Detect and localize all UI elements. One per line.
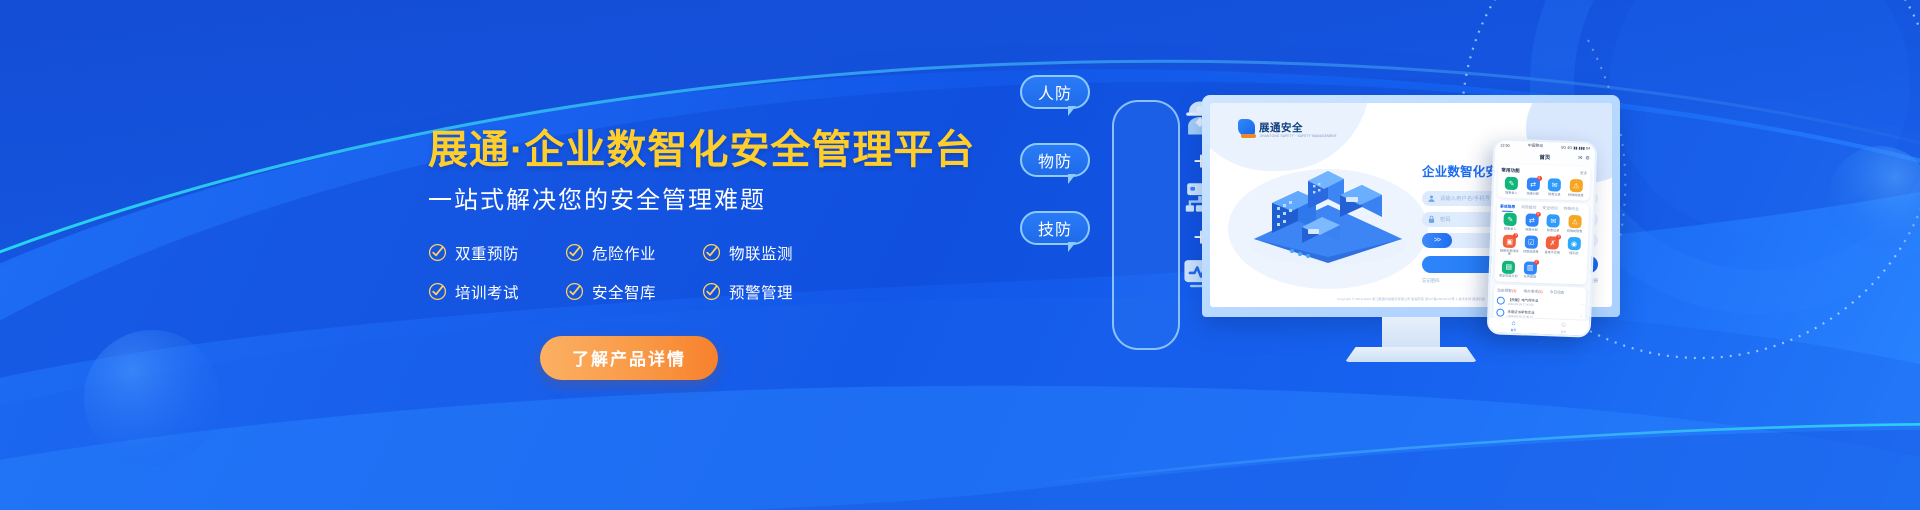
feature-item: 培训考试 — [428, 281, 565, 303]
app-label: 制定年度计划 — [1499, 275, 1518, 279]
tab-special-work[interactable]: 特殊作业 — [1563, 207, 1578, 213]
more-link[interactable]: 更多 — [1580, 171, 1587, 176]
status-carrier: 中国移动 — [1528, 143, 1543, 149]
monitor-neck — [1382, 317, 1440, 347]
notification-badge: 3 — [1513, 233, 1518, 238]
tabbar-item-profile[interactable]: ☺ 我的 — [1560, 321, 1568, 333]
check-circle-icon — [702, 282, 721, 301]
chevron-right-icon: › — [1581, 301, 1583, 306]
app-icon: ✎ — [1505, 177, 1518, 190]
home-icon: ⌂ — [1511, 319, 1515, 326]
badge-wufang[interactable]: 物防 — [1020, 143, 1090, 177]
tab-todo[interactable]: 待办事项(5) — [1523, 289, 1542, 295]
notification-badge: 2 — [1534, 259, 1539, 264]
feature-label: 危险作业 — [592, 242, 656, 264]
app-label: 隐患记录 — [1548, 193, 1560, 197]
logo-text: 展通安全 — [1259, 120, 1303, 135]
hazard-card: 事故隐患 风险管控 安全培训 特殊作业 ✎ 隐患录入 ⇄ 8 — [1494, 200, 1589, 284]
username-placeholder: 请输入用户名/手机号 — [1440, 195, 1490, 202]
feature-item: 双重预防 — [428, 242, 565, 264]
check-circle-icon — [565, 243, 584, 262]
user-icon — [1427, 194, 1436, 203]
page-subtitle: 一站式解决您的安全管理难题 — [428, 187, 988, 216]
app-item[interactable]: ⇄ 8 隐患分配 — [1521, 213, 1543, 232]
app-item[interactable]: ⇄ 8 隐患分配 — [1522, 177, 1544, 196]
app-item[interactable]: ☑ 待整改隐患 — [1520, 235, 1542, 257]
app-icon: ✉ — [1547, 214, 1560, 227]
app-item[interactable]: ▥ 2 任务报查 — [1519, 261, 1541, 280]
feature-label: 物联监测 — [729, 242, 793, 264]
app-icon: ☑ — [1524, 235, 1537, 248]
app-label: 隐患分配 — [1527, 192, 1539, 196]
feature-label: 安全智库 — [592, 281, 656, 303]
platform-logo: 展通安全 ZHANTONG SAFETY · SAFETY MANAGEMENT — [1238, 119, 1303, 136]
app-label: 任务报查 — [1524, 276, 1536, 280]
logo-mark-icon — [1238, 119, 1255, 136]
app-label: 隐患录入 — [1504, 227, 1516, 231]
chevron-right-icon: › — [1581, 313, 1583, 318]
app-icon: ▣ 3 — [1503, 235, 1516, 248]
gear-icon[interactable]: ⚙ — [1585, 155, 1590, 161]
app-icon: ⚠ — [1569, 179, 1582, 192]
lock-icon — [1427, 215, 1436, 224]
app-item[interactable]: ▤ 制定年度计划 — [1498, 260, 1520, 279]
notification-badge: 8 — [1535, 212, 1540, 217]
app-icon: ◉ — [1567, 237, 1580, 250]
badge-label: 物防 — [1038, 148, 1072, 172]
app-icon: ⇄ 8 — [1526, 177, 1539, 190]
hero-copy: 展通·企业数智化安全管理平台 一站式解决您的安全管理难题 双重预防 危险作业 — [428, 128, 988, 380]
user-icon: ☺ — [1560, 321, 1567, 328]
list-item-text: 【预警】电气焊作业 2024-05-28 17:41:02 — [1508, 297, 1579, 308]
feature-item: 预警管理 — [702, 281, 839, 303]
app-item[interactable]: ✎ 隐患录入 — [1499, 213, 1521, 232]
captcha-slider-handle[interactable]: >> — [1422, 233, 1452, 248]
section-title: 常用功能 — [1501, 168, 1520, 175]
notification-badge: 6 — [1556, 235, 1561, 240]
mobile-app-mockup: 13:50 中国移动 5G 4G ▮▮ ▮▮▮ 84 首页 ✉ ⚙ 常用功能 更… — [1487, 138, 1598, 338]
app-item[interactable]: ✗ 6 复查不合格 — [1541, 236, 1563, 258]
app-icon: ⚠ — [1568, 215, 1581, 228]
feature-label: 预警管理 — [729, 281, 793, 303]
badge-label: 人防 — [1038, 80, 1072, 104]
app-item[interactable]: ◉ 随手拍 — [1563, 237, 1585, 259]
app-label: 隐患录入 — [1505, 191, 1517, 195]
badge-label: 技防 — [1038, 216, 1072, 240]
feature-label: 双重预防 — [455, 242, 519, 264]
tabbar-item-home[interactable]: ⌂ 首页 — [1511, 319, 1517, 331]
phone-nav-title: 首页 — [1539, 152, 1550, 160]
tab-training[interactable]: 安全培训 — [1542, 206, 1557, 212]
learn-more-button[interactable]: 了解产品详情 — [540, 336, 718, 380]
hazard-tabs: 事故隐患 风险管控 安全培训 特殊作业 — [1500, 205, 1586, 213]
app-icon: ✎ — [1504, 213, 1517, 226]
isometric-city-illustration — [1236, 159, 1416, 269]
status-time: 13:50 — [1500, 143, 1510, 147]
app-item[interactable]: ▣ 3 超期未整改隐患 — [1498, 235, 1520, 257]
password-placeholder: 密码 — [1440, 216, 1451, 223]
badge-jifang[interactable]: 技防 — [1020, 211, 1090, 245]
notification-badge: 8 — [1537, 176, 1542, 181]
hero-banner: 展通·企业数智化安全管理平台 一站式解决您的安全管理难题 双重预防 危险作业 — [0, 0, 1920, 510]
status-dot-icon — [1497, 297, 1505, 305]
phone-tab-bar: ⌂ 首页 ☺ 我的 — [1489, 316, 1589, 335]
feature-item: 安全智库 — [565, 281, 702, 303]
app-label: 特殊岗隐患 — [1568, 193, 1584, 197]
hazard-functions-grid: ✎ 隐患录入 ⇄ 8 隐患分配 ✉ 隐患记录 — [1498, 213, 1586, 282]
list-item[interactable]: 【预警】电气焊作业 2024-05-28 17:41:02 › — [1497, 296, 1583, 308]
check-circle-icon — [428, 243, 447, 262]
app-icon: ▤ — [1502, 260, 1515, 273]
app-label: 复查不合格 — [1544, 251, 1560, 255]
badge-renfang[interactable]: 人防 — [1020, 75, 1090, 109]
check-circle-icon — [565, 282, 584, 301]
common-functions-grid: ✎ 隐患录入 ⇄ 8 隐患分配 ✉ 隐患记录 — [1500, 177, 1587, 198]
app-label: 超期未整改隐患 — [1498, 249, 1520, 257]
message-icon[interactable]: ✉ — [1578, 155, 1582, 161]
feature-item: 危险作业 — [565, 242, 702, 264]
phone-nav-icons: ✉ ⚙ — [1578, 155, 1590, 161]
app-label: 特殊岗隐患 — [1567, 229, 1583, 233]
common-functions-card: 常用功能 更多 ✎ 隐患录入 ⇄ 8 隐患分配 — [1497, 163, 1590, 200]
app-icon: ▥ 2 — [1523, 261, 1536, 274]
check-circle-icon — [702, 243, 721, 262]
app-label: 隐患记录 — [1547, 229, 1559, 233]
app-item[interactable]: ✎ 隐患录入 — [1500, 177, 1522, 196]
list-tabs: 动态预警(3) 待办事项(5) 今日动态 — [1497, 288, 1583, 296]
app-icon: ✉ — [1548, 178, 1561, 191]
logo-tagline: ZHANTONG SAFETY · SAFETY MANAGEMENT — [1260, 134, 1337, 138]
app-item[interactable]: ✉ 隐患记录 — [1543, 178, 1565, 197]
app-item[interactable]: ⚠ 特殊岗隐患 — [1565, 179, 1587, 198]
app-label: 随手拍 — [1569, 252, 1578, 256]
app-item[interactable]: ⚠ 特殊岗隐患 — [1564, 215, 1586, 234]
app-icon: ✗ 6 — [1546, 236, 1559, 249]
tab-today[interactable]: 今日动态 — [1550, 290, 1565, 296]
defense-rail-container — [1112, 100, 1180, 350]
tab-dynamic-warning[interactable]: 动态预警(3) — [1497, 288, 1516, 294]
status-indicators: 5G 4G ▮▮ ▮▮▮ 84 — [1561, 145, 1590, 151]
product-illustration: 人防 物防 技防 + — [1020, 0, 1920, 510]
app-icon: ⇄ 8 — [1525, 213, 1538, 226]
tab-hazard[interactable]: 事故隐患 — [1500, 205, 1515, 211]
page-title: 展通·企业数智化安全管理平台 — [428, 128, 988, 173]
feature-label: 培训考试 — [455, 281, 519, 303]
tabbar-label: 首页 — [1511, 327, 1517, 331]
tab-risk[interactable]: 风险管控 — [1521, 205, 1536, 211]
check-circle-icon — [428, 282, 447, 301]
feature-item: 物联监测 — [702, 242, 839, 264]
app-item[interactable]: ✉ 隐患记录 — [1542, 214, 1564, 233]
forgot-password-link[interactable]: 忘记密码 — [1422, 278, 1440, 284]
card-header: 常用功能 更多 — [1501, 168, 1587, 177]
phone-nav-bar: 首页 ✉ ⚙ — [1495, 149, 1595, 163]
app-label: 隐患分配 — [1525, 228, 1537, 232]
app-label: 待整改隐患 — [1523, 250, 1539, 254]
feature-list: 双重预防 危险作业 物联监测 — [428, 242, 828, 303]
tabbar-label: 我的 — [1560, 329, 1566, 333]
monitor-base — [1345, 347, 1477, 362]
